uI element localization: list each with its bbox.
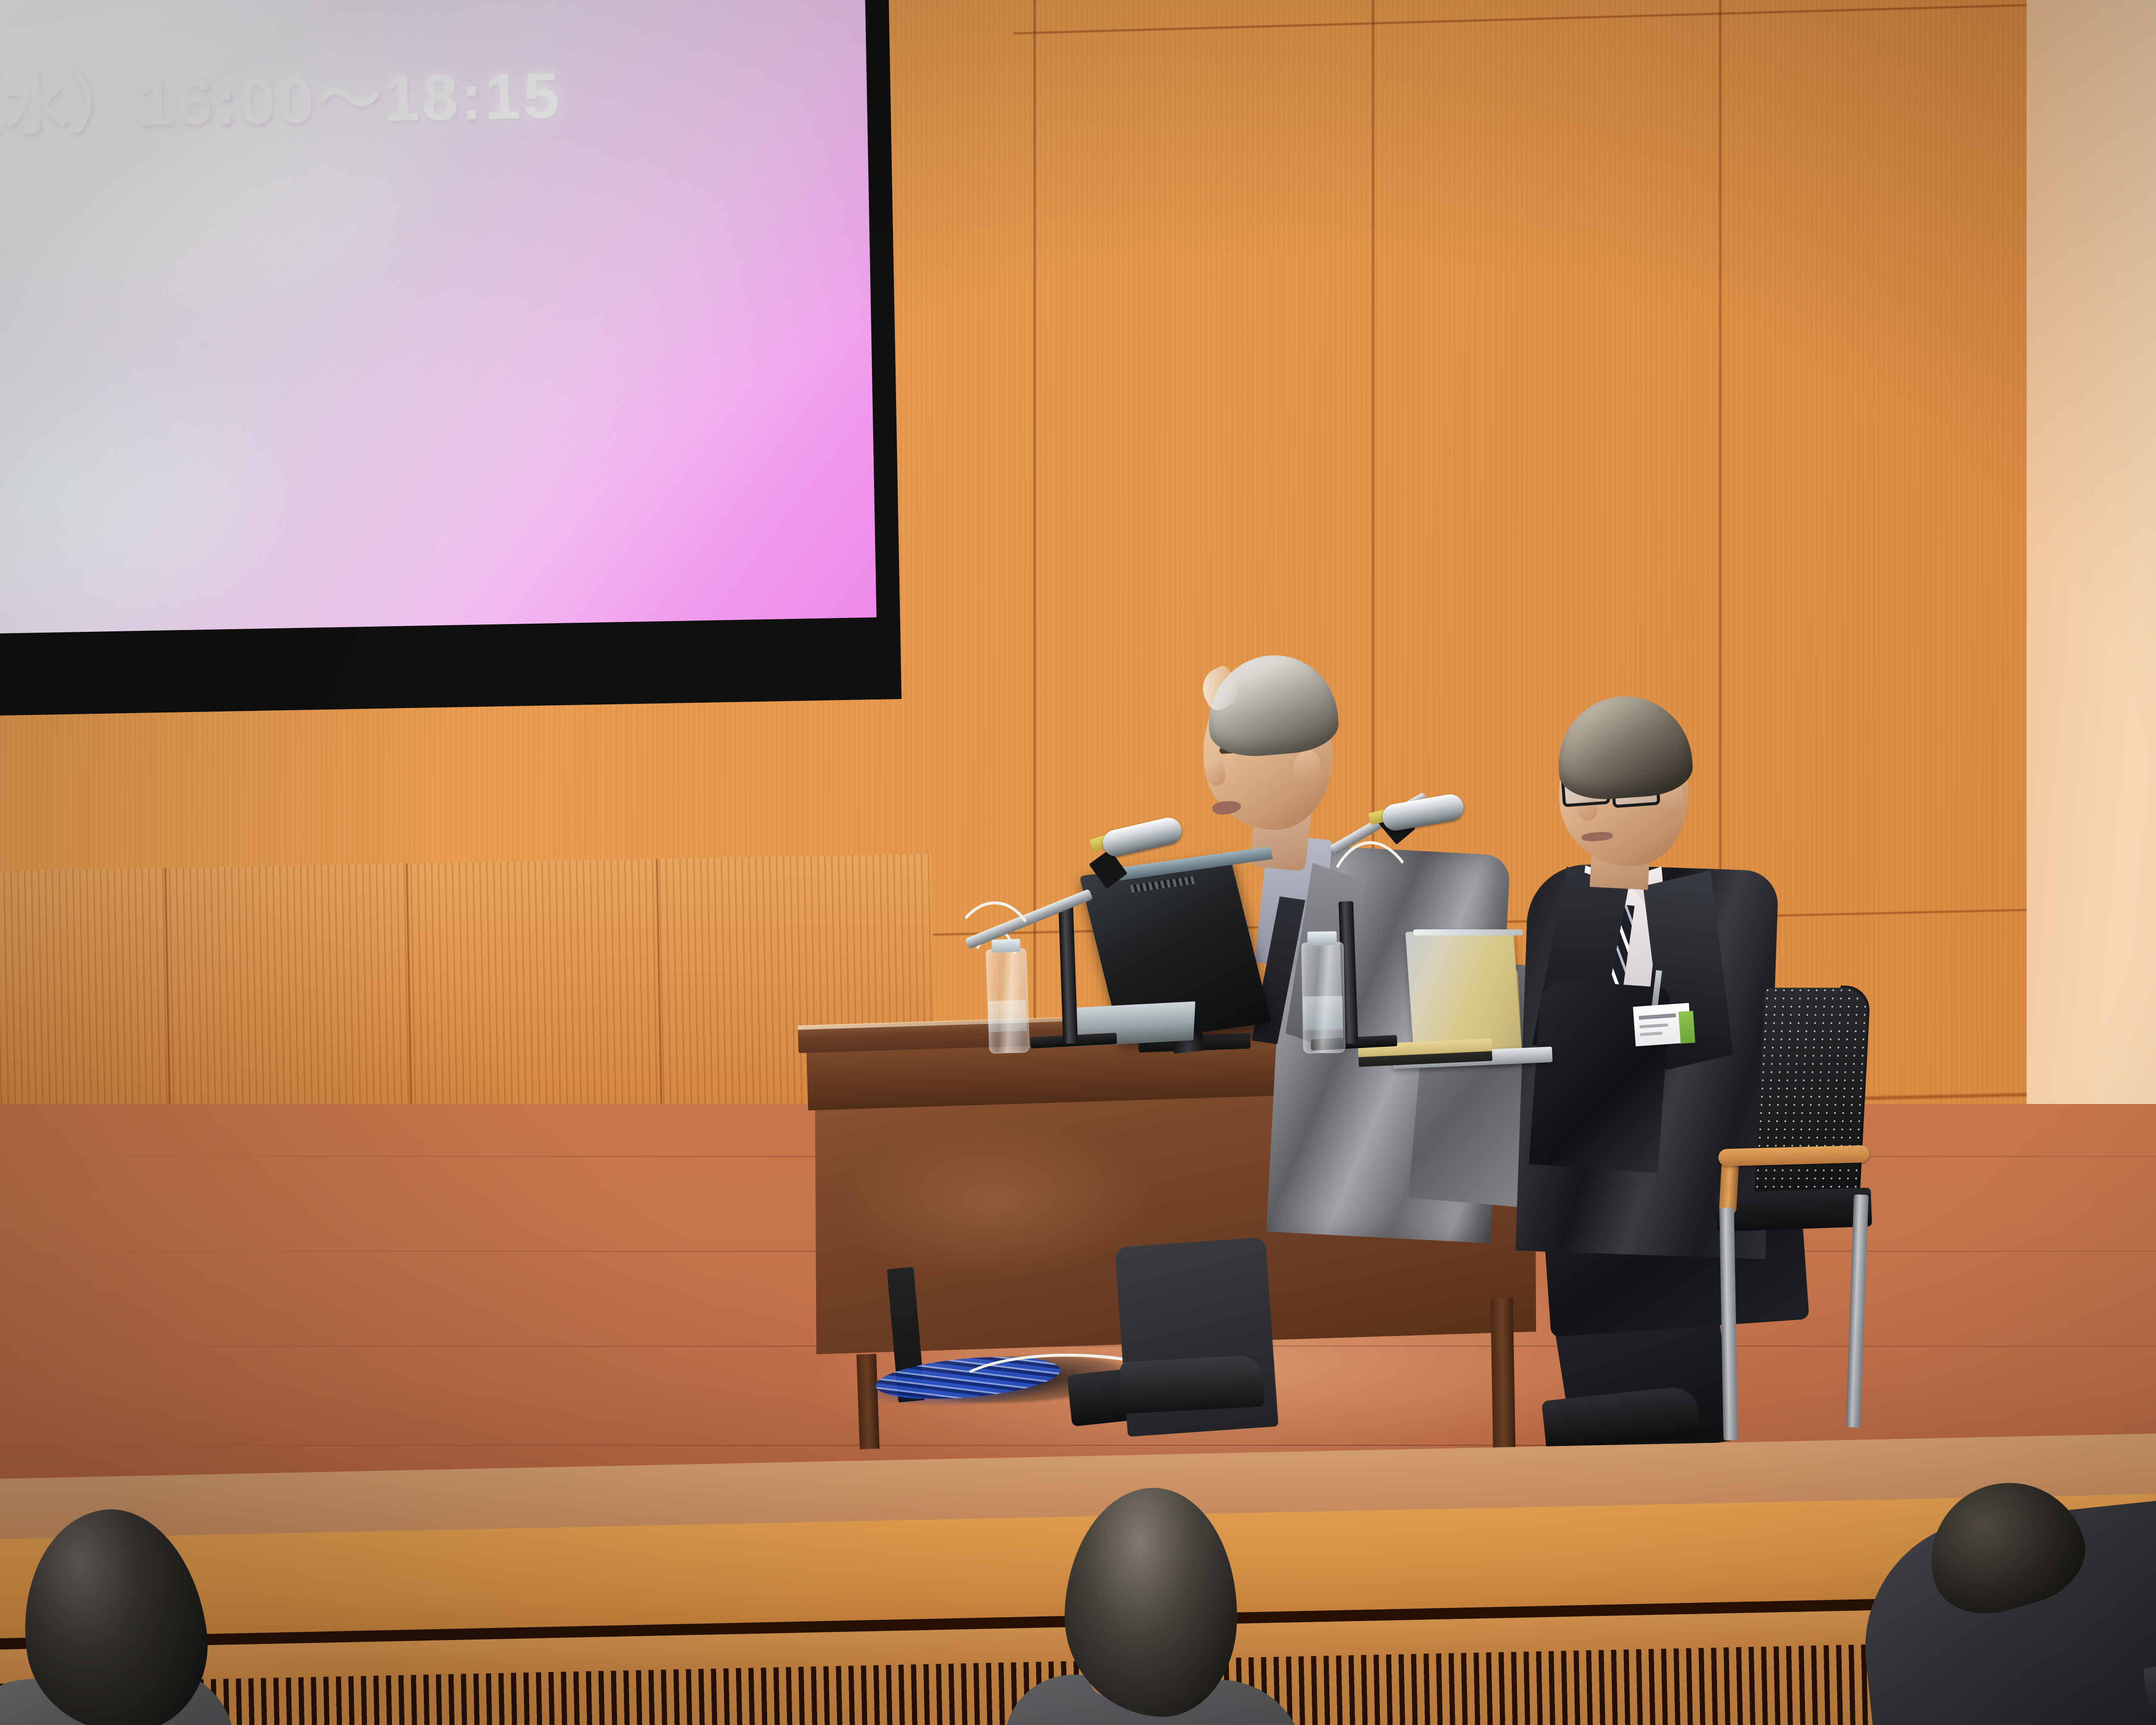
bottle-label-right — [1303, 996, 1343, 1030]
slide-text: 日（水）16:00～18:15 — [0, 43, 562, 149]
chair-seat[interactable] — [1716, 1188, 1872, 1232]
cream-wall-panel — [2027, 0, 2156, 1199]
bottle-label-left — [988, 1000, 1027, 1032]
bottle-cap-left — [991, 939, 1020, 953]
projection-screen[interactable]: 日（水）16:00～18:15 — [0, 0, 877, 634]
table-leg-right — [1491, 1298, 1516, 1471]
badge-accent-stripe — [1678, 1011, 1695, 1044]
lower-wood-panel — [0, 854, 936, 1147]
bottle-cap-right — [1307, 931, 1337, 945]
chair-mesh-back[interactable] — [1753, 988, 1869, 1211]
speaker-left-shoe — [1120, 1355, 1265, 1414]
conference-photo-scene: 日（水）16:00～18:15 — [0, 0, 2156, 1725]
